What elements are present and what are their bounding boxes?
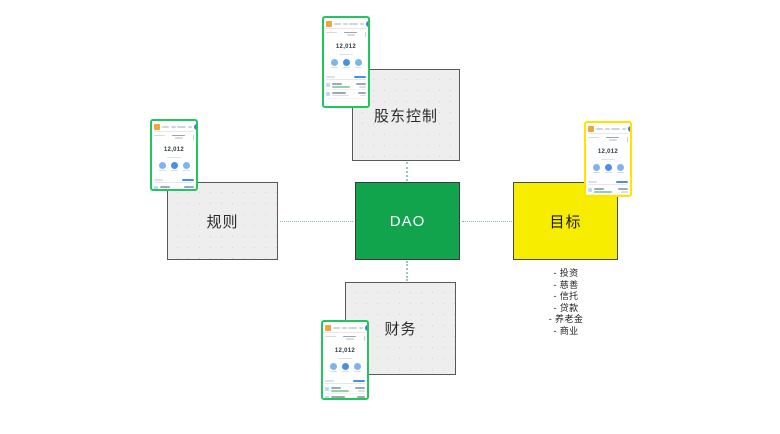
app-logo-icon xyxy=(154,124,160,130)
row-icon xyxy=(154,186,158,190)
list-item: - 信托 xyxy=(553,291,578,303)
list-item: - 养老金 xyxy=(549,314,584,326)
app-logo-icon xyxy=(326,21,332,27)
phone-big-value: 12,012 xyxy=(326,44,366,51)
phone-list xyxy=(326,81,366,105)
action-icon-3[interactable] xyxy=(355,59,362,66)
phone-tabs[interactable] xyxy=(154,175,194,183)
node-finance-label: 财务 xyxy=(384,318,416,339)
row-icon xyxy=(325,396,329,400)
phone-list xyxy=(154,184,194,191)
list-item: - 商业 xyxy=(553,326,578,338)
list-item[interactable] xyxy=(588,188,628,195)
phone-action-icons xyxy=(588,164,628,174)
phone-subheader xyxy=(326,31,366,41)
phone-breadcrumb xyxy=(596,128,626,130)
user-avatar-icon[interactable] xyxy=(365,325,370,331)
kebab-menu-icon[interactable] xyxy=(365,32,367,37)
phone-tabs[interactable] xyxy=(326,72,366,80)
goal-bullet-list: - 投资 - 慈善 - 信托 - 贷款 - 养老金 - 商业 xyxy=(516,268,616,338)
list-item[interactable] xyxy=(325,396,365,400)
phone-tabs[interactable] xyxy=(588,177,628,185)
action-icon-2[interactable] xyxy=(171,162,178,169)
phone-big-value: 12,012 xyxy=(588,149,628,156)
phone-mockup-finance[interactable]: 12,012 xyxy=(321,320,369,400)
user-avatar-icon[interactable] xyxy=(628,126,633,132)
phone-breadcrumb xyxy=(334,23,364,25)
phone-mockup-governance[interactable]: 12,012 xyxy=(322,16,370,108)
list-item: - 投资 xyxy=(553,268,578,280)
kebab-menu-icon[interactable] xyxy=(627,137,629,142)
phone-topbar xyxy=(588,125,628,134)
phone-big-value: 12,012 xyxy=(325,348,365,355)
node-governance-label: 股东控制 xyxy=(374,105,438,126)
action-icon-3[interactable] xyxy=(183,162,190,169)
row-icon xyxy=(326,92,330,96)
phone-big-value-sub xyxy=(339,54,353,56)
node-rules[interactable]: 规则 xyxy=(167,182,278,260)
action-icon-2[interactable] xyxy=(342,363,349,370)
list-item[interactable] xyxy=(154,186,194,191)
action-icon-2[interactable] xyxy=(605,164,612,171)
phone-big-value-sub xyxy=(601,159,615,161)
node-dao-label: DAO xyxy=(390,213,426,230)
phone-mockup-rules[interactable]: 12,012 xyxy=(150,119,198,191)
phone-subheader xyxy=(154,134,194,144)
phone-action-icons xyxy=(325,363,365,373)
list-item[interactable] xyxy=(325,387,365,394)
action-icon-1[interactable] xyxy=(331,59,338,66)
phone-list xyxy=(325,385,365,400)
node-rules-label: 规则 xyxy=(206,211,238,232)
app-logo-icon xyxy=(588,126,594,132)
list-item[interactable] xyxy=(326,83,366,90)
row-icon xyxy=(325,387,329,391)
phone-big-value-sub xyxy=(338,358,352,360)
action-icon-1[interactable] xyxy=(593,164,600,171)
action-icon-1[interactable] xyxy=(330,363,337,370)
action-icon-1[interactable] xyxy=(159,162,166,169)
connector-rules-to-center xyxy=(280,221,353,222)
app-logo-icon xyxy=(325,325,331,331)
action-icon-3[interactable] xyxy=(617,164,624,171)
node-dao-center[interactable]: DAO xyxy=(355,182,460,260)
phone-topbar xyxy=(325,324,365,333)
list-item: - 贷款 xyxy=(553,303,578,315)
phone-subheader xyxy=(588,136,628,146)
node-goal-label: 目标 xyxy=(549,211,581,232)
user-avatar-icon[interactable] xyxy=(366,21,371,27)
diagram-canvas: 股东控制 规则 DAO 目标 财务 - 投资 - 慈善 - 信托 - 贷款 - … xyxy=(0,0,780,434)
action-icon-3[interactable] xyxy=(354,363,361,370)
action-icon-2[interactable] xyxy=(343,59,350,66)
user-avatar-icon[interactable] xyxy=(194,124,199,130)
kebab-menu-icon[interactable] xyxy=(364,336,366,341)
connector-center-to-finance xyxy=(406,261,408,281)
list-item[interactable] xyxy=(326,92,366,99)
phone-subheader xyxy=(325,335,365,345)
phone-topbar xyxy=(326,20,366,29)
phone-action-icons xyxy=(326,59,366,69)
row-icon xyxy=(588,188,592,192)
phone-list xyxy=(588,186,628,197)
phone-big-value: 12,012 xyxy=(154,147,194,154)
phone-topbar xyxy=(154,123,194,132)
list-item: - 慈善 xyxy=(553,280,578,292)
connector-governance-to-center xyxy=(406,162,408,181)
phone-breadcrumb xyxy=(162,126,192,128)
kebab-menu-icon[interactable] xyxy=(193,135,195,140)
phone-breadcrumb xyxy=(333,327,363,329)
phone-mockup-goal[interactable]: 12,012 xyxy=(584,121,632,197)
phone-big-value-sub xyxy=(167,157,181,159)
phone-tabs[interactable] xyxy=(325,376,365,384)
connector-center-to-goal xyxy=(462,221,512,222)
row-icon xyxy=(326,83,330,87)
phone-action-icons xyxy=(154,162,194,172)
